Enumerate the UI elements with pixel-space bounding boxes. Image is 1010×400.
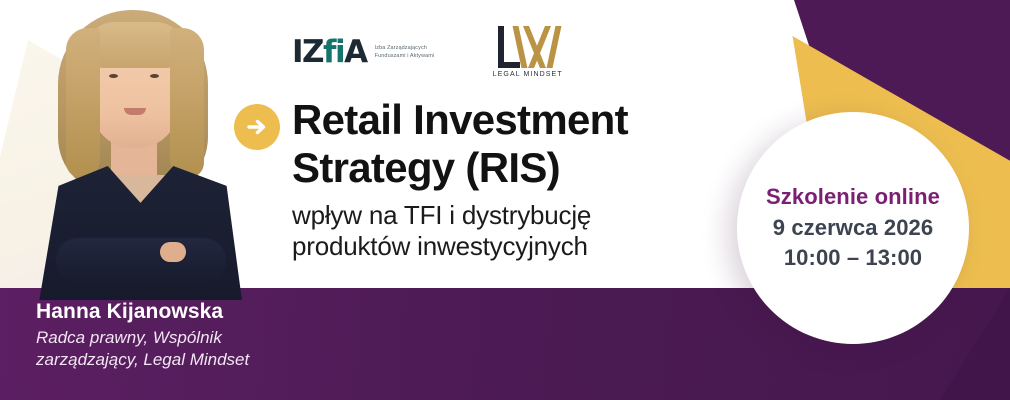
event-details-badge: Szkolenie online 9 czerwca 2026 10:00 – … — [737, 112, 969, 344]
event-banner: IZfiA Izba Zarządzających Funduszami i A… — [0, 0, 1010, 400]
photo-crossed-arms — [56, 238, 226, 284]
arrow-right-icon — [234, 104, 280, 150]
badge-time-range: 10:00 – 13:00 — [784, 243, 922, 273]
speaker-role: Radca prawny, Wspólnik zarządzający, Leg… — [36, 327, 249, 371]
badge-format-label: Szkolenie online — [766, 182, 940, 212]
izfia-mark-a: A — [344, 34, 367, 70]
izfia-wordmark: IZfiA — [292, 37, 367, 68]
izfia-mark-iz: IZ — [292, 34, 323, 70]
speaker-role-line-2: zarządzający, Legal Mindset — [36, 350, 249, 369]
headline-block: Retail Investment Strategy (RIS) wpływ n… — [292, 96, 712, 262]
page-subtitle: wpływ na TFI i dystrybucję produktów inw… — [292, 200, 712, 262]
page-title: Retail Investment Strategy (RIS) — [292, 96, 712, 192]
legal-mindset-name: LEGAL MINDSET — [493, 71, 563, 78]
izfia-logo[interactable]: IZfiA Izba Zarządzających Funduszami i A… — [292, 37, 437, 68]
badge-date: 9 czerwca 2026 — [773, 213, 933, 243]
speaker-name: Hanna Kijanowska — [36, 300, 249, 324]
izfia-subtitle: Izba Zarządzających Funduszami i Aktywam… — [375, 44, 437, 61]
purple-footer-notch — [940, 288, 1010, 400]
photo-eye-right — [150, 74, 159, 78]
izfia-mark-fi: fi — [323, 34, 344, 70]
logo-row: IZfiA Izba Zarządzających Funduszami i A… — [292, 26, 563, 78]
subtitle-line-1: wpływ na TFI i dystrybucję — [292, 200, 591, 230]
photo-hand — [160, 242, 186, 262]
title-line-2: Strategy (RIS) — [292, 144, 560, 191]
legal-mindset-monogram — [498, 26, 557, 68]
photo-eye-left — [109, 74, 118, 78]
speaker-caption: Hanna Kijanowska Radca prawny, Wspólnik … — [36, 300, 249, 371]
subtitle-line-2: produktów inwestycyjnych — [292, 231, 588, 261]
photo-mouth — [124, 108, 146, 115]
speaker-photo — [10, 0, 260, 300]
legal-mindset-logo[interactable]: LEGAL MINDSET — [493, 26, 563, 78]
photo-hair-left — [66, 28, 100, 178]
photo-hair-right — [170, 28, 204, 178]
monogram-letter-m — [517, 26, 557, 68]
speaker-role-line-1: Radca prawny, Wspólnik — [36, 328, 222, 347]
title-line-1: Retail Investment — [292, 96, 628, 143]
